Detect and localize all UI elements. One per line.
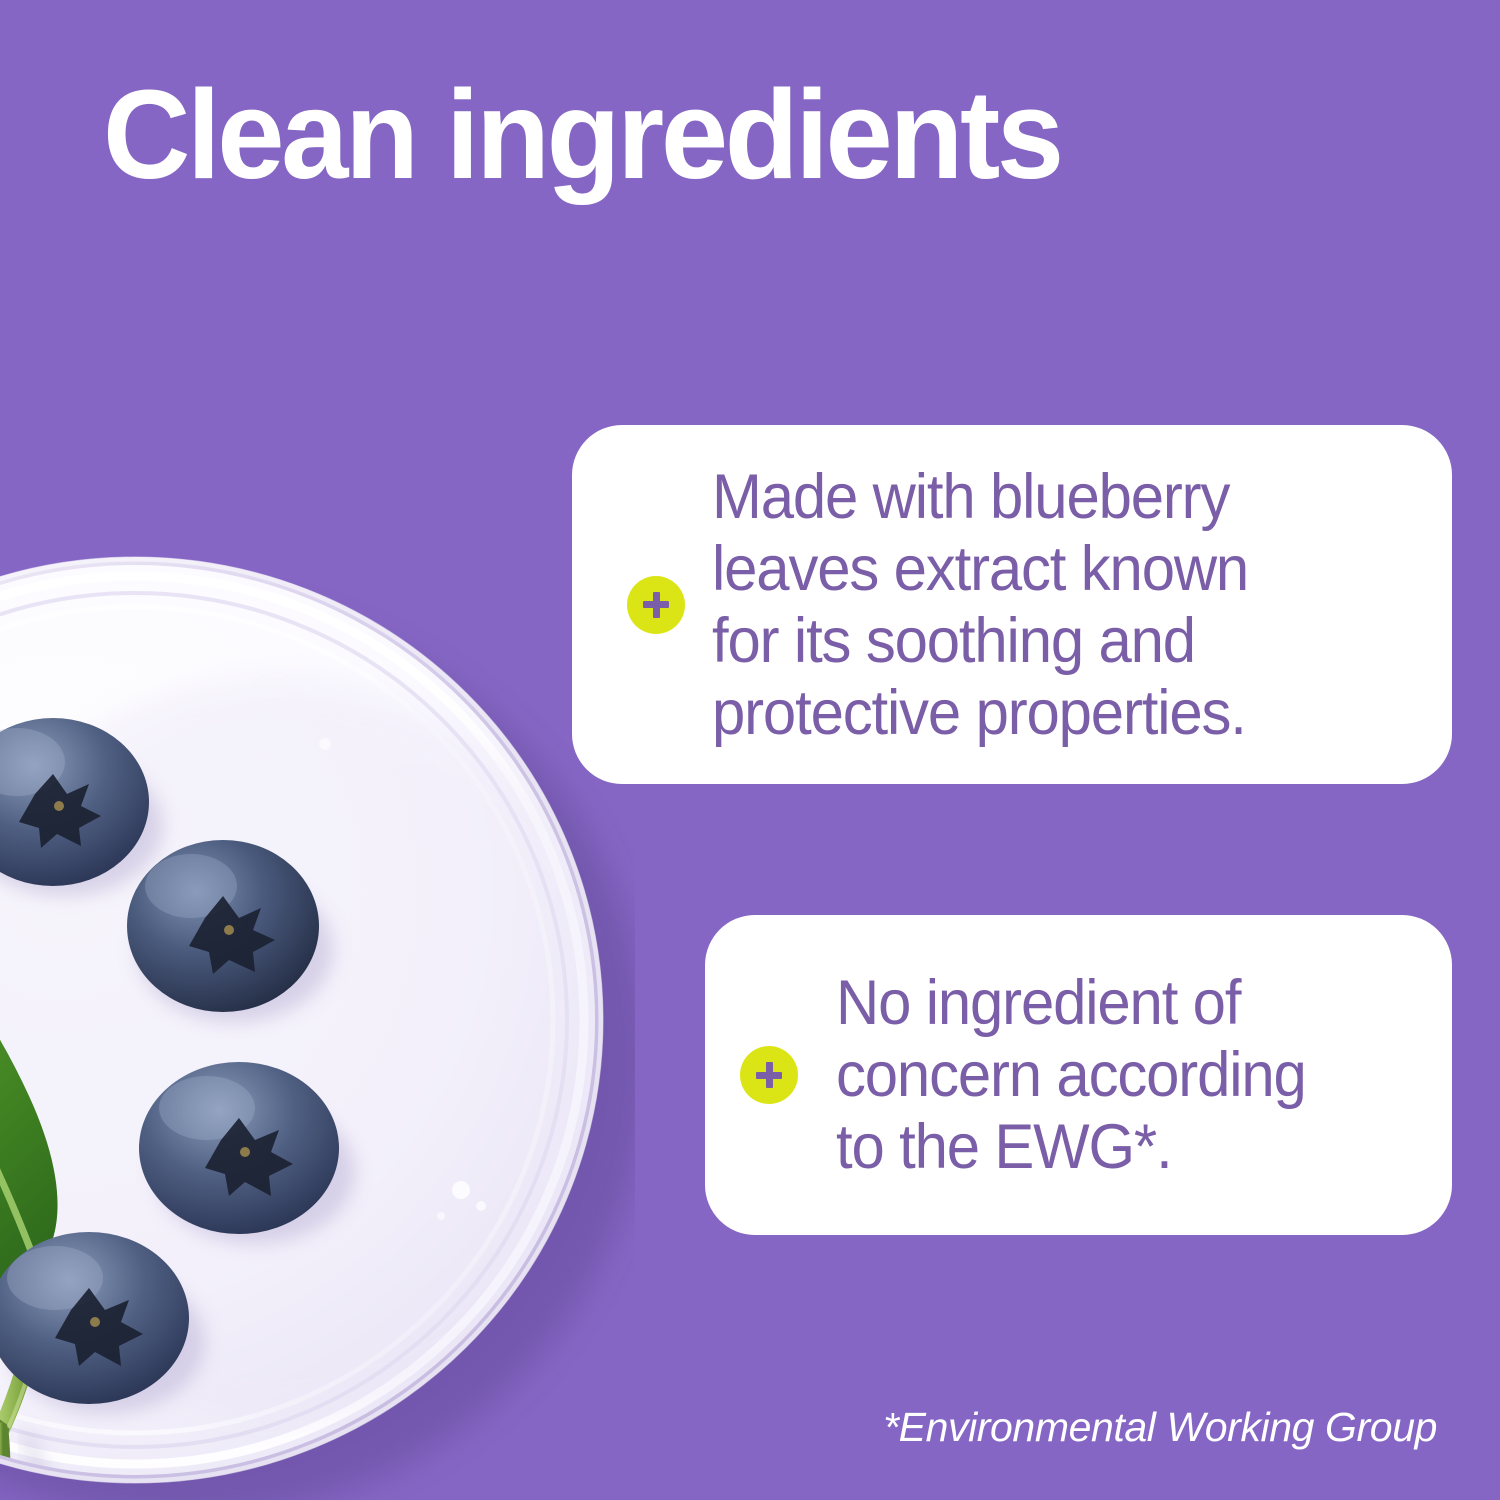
benefit-line: to the EWG*. [836,1111,1306,1183]
benefit-line: No ingredient of [836,967,1306,1039]
benefit-line: for its soothing and [712,605,1248,677]
benefit-line: protective properties. [712,677,1248,749]
page-title: Clean ingredients [103,72,1061,198]
blueberry-petri-dish-photo [0,530,635,1500]
benefit-card-2: No ingredient of concern according to th… [705,915,1452,1235]
benefit-card-1: Made with blueberry leaves extract known… [572,425,1452,784]
benefit-card-2-text: No ingredient of concern according to th… [836,967,1306,1183]
benefit-line: Made with blueberry [712,461,1248,533]
clean-ingredients-poster: Clean ingredients [0,0,1500,1500]
plus-icon [740,1046,798,1104]
plus-icon [627,576,685,634]
benefit-line: concern according [836,1039,1306,1111]
footnote: *Environmental Working Group [883,1404,1437,1451]
benefit-line: leaves extract known [712,533,1248,605]
benefit-card-1-text: Made with blueberry leaves extract known… [712,461,1248,749]
